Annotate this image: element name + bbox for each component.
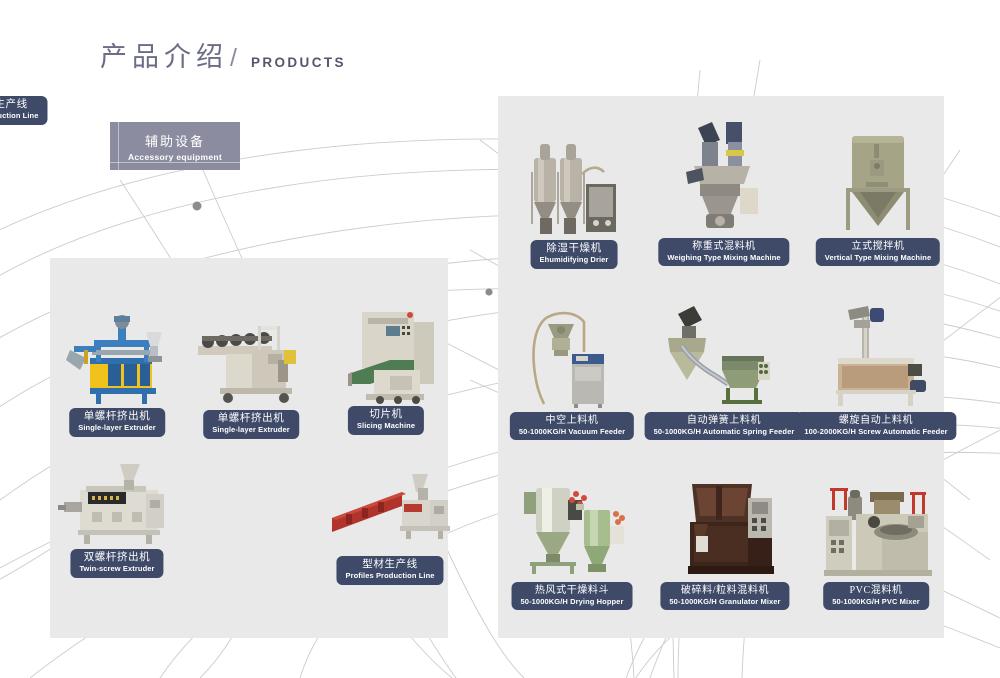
- product-name-cn: 中空上料机: [519, 415, 625, 427]
- product-thumbnail: [812, 470, 940, 578]
- product-name-cn: 螺旋自动上料机: [804, 415, 947, 427]
- product-cell[interactable]: 立式搅拌机 Vertical Type Mixing Machine: [826, 122, 930, 268]
- product-name-en: Profiles Production Line: [345, 572, 434, 581]
- product-cell[interactable]: 自动弹簧上料机 50-1000KG/H Automatic Spring Fee…: [660, 300, 788, 440]
- product-thumbnail: [514, 300, 630, 408]
- product-spec-en: 50-1000KG/H Granulator Mixer: [669, 598, 780, 607]
- page-header: 产品介绍 / PRODUCTS: [100, 44, 346, 71]
- product-label[interactable]: 自动弹簧上料机 50-1000KG/H Automatic Spring Fee…: [645, 412, 804, 440]
- page-title-en: PRODUCTS: [251, 56, 346, 72]
- product-cell[interactable]: 单螺杆挤出机 Single-layer Extruder: [62, 300, 172, 440]
- product-cell[interactable]: 切片机 Slicing Machine: [330, 298, 442, 438]
- product-thumbnail: [330, 460, 450, 550]
- product-spec-en: 50-1000KG/H Vacuum Feeder: [519, 428, 625, 437]
- product-thumbnail: [58, 450, 176, 546]
- title-separator: /: [230, 46, 237, 71]
- product-spec-en: 50-1000KG/H Automatic Spring Feeder: [654, 428, 795, 437]
- product-label[interactable]: 立式搅拌机 Vertical Type Mixing Machine: [816, 238, 940, 266]
- product-label[interactable]: 单螺杆挤出机 Single-layer Extruder: [203, 410, 299, 439]
- product-label[interactable]: 称重式混料机 Weighing Type Mixing Machine: [658, 238, 789, 266]
- product-name-cn: 管材生产线: [0, 99, 39, 111]
- product-name-en: Vertical Type Mixing Machine: [825, 254, 931, 263]
- product-label[interactable]: 螺旋自动上料机 100-2000KG/H Screw Automatic Fee…: [795, 412, 956, 440]
- product-cell[interactable]: PVC混料机 50-1000KG/H PVC Mixer: [812, 470, 940, 610]
- product-name-cn: 立式搅拌机: [825, 241, 931, 253]
- page-title-cn: 产品介绍: [100, 44, 228, 71]
- category-label-cn: 辅助设备: [145, 131, 205, 150]
- product-name-cn: 称重式混料机: [667, 241, 780, 253]
- product-label[interactable]: 切片机 Slicing Machine: [348, 406, 424, 435]
- product-name-cn: 热风式干燥料斗: [521, 585, 624, 597]
- product-cell[interactable]: 称重式混料机 Weighing Type Mixing Machine: [672, 110, 776, 268]
- product-catalog-page: 产品介绍 / PRODUCTS 辅助设备 Accessory equipment: [0, 0, 1000, 678]
- product-spec-en: 50-1000KG/H Drying Hopper: [521, 598, 624, 607]
- product-name-cn: PVC混料机: [832, 585, 920, 597]
- product-cell[interactable]: 中空上料机 50-1000KG/H Vacuum Feeder: [514, 300, 630, 440]
- product-name-en: Twin-screw Extruder: [79, 565, 154, 574]
- product-thumbnail: [192, 302, 310, 406]
- product-spec-en: 100-2000KG/H Screw Automatic Feeder: [804, 428, 947, 437]
- product-cell[interactable]: 单螺杆挤出机 Single-layer Extruder: [192, 302, 310, 442]
- product-spec-en: 50-1000KG/H PVC Mixer: [832, 598, 920, 607]
- product-label[interactable]: 型材生产线 Profiles Production Line: [336, 556, 443, 585]
- product-label[interactable]: 单螺杆挤出机 Single-layer Extruder: [69, 408, 165, 437]
- product-thumbnail: [520, 128, 628, 236]
- product-thumbnail: [664, 470, 786, 578]
- product-name-en: Slicing Machine: [357, 422, 415, 431]
- product-label[interactable]: 破碎料/粒料混料机 50-1000KG/H Granulator Mixer: [660, 582, 789, 610]
- product-name-cn: 单螺杆挤出机: [212, 413, 290, 425]
- category-tag-accessory-equipment: 辅助设备 Accessory equipment: [110, 122, 240, 170]
- product-cell[interactable]: 螺旋自动上料机 100-2000KG/H Screw Automatic Fee…: [808, 298, 944, 440]
- product-thumbnail: [330, 298, 442, 406]
- product-name-cn: 除湿干燥机: [540, 243, 609, 255]
- product-name-cn: 双螺杆挤出机: [79, 552, 154, 564]
- product-thumbnail: [672, 110, 776, 235]
- product-cell[interactable]: 破碎料/粒料混料机 50-1000KG/H Granulator Mixer: [664, 470, 786, 610]
- product-thumbnail: [510, 470, 634, 578]
- product-name-en: Single-layer Extruder: [212, 426, 290, 435]
- product-thumbnail: [660, 300, 788, 408]
- product-name-cn: 切片机: [357, 409, 415, 421]
- product-cell[interactable]: 除湿干燥机 Ehumidifying Drier: [520, 128, 628, 268]
- product-name-en: Single-layer Extruder: [78, 424, 156, 433]
- product-label[interactable]: 中空上料机 50-1000KG/H Vacuum Feeder: [510, 412, 634, 440]
- product-name-cn: 自动弹簧上料机: [654, 415, 795, 427]
- product-name-cn: 型材生产线: [345, 559, 434, 571]
- category-label-en: Accessory equipment: [128, 152, 222, 162]
- product-name-en: Weighing Type Mixing Machine: [667, 254, 780, 263]
- product-thumbnail: [826, 122, 930, 234]
- product-name-cn: 单螺杆挤出机: [78, 411, 156, 423]
- product-label[interactable]: PVC混料机 50-1000KG/H PVC Mixer: [823, 582, 929, 610]
- product-label[interactable]: 双螺杆挤出机 Twin-screw Extruder: [70, 549, 163, 578]
- product-label[interactable]: 除湿干燥机 Ehumidifying Drier: [531, 240, 618, 269]
- product-name-cn: 破碎料/粒料混料机: [669, 585, 780, 597]
- product-label[interactable]: 热风式干燥料斗 50-1000KG/H Drying Hopper: [512, 582, 633, 610]
- product-name-en: Pipe Production Line: [0, 112, 39, 121]
- product-cell[interactable]: 型材生产线 Profiles Production Line: [330, 460, 450, 585]
- product-name-en: Ehumidifying Drier: [540, 256, 609, 265]
- product-thumbnail: [62, 300, 172, 405]
- product-cell[interactable]: 双螺杆挤出机 Twin-screw Extruder: [58, 450, 176, 580]
- product-label[interactable]: 管材生产线 Pipe Production Line: [0, 96, 48, 125]
- product-cell[interactable]: 热风式干燥料斗 50-1000KG/H Drying Hopper: [510, 470, 634, 610]
- product-thumbnail: [808, 298, 944, 408]
